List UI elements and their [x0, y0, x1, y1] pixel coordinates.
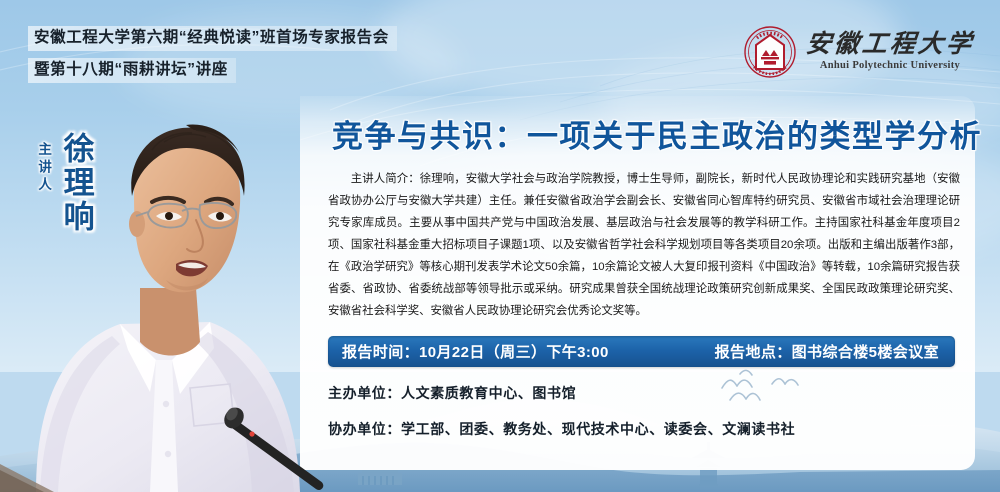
main-content: 竞争与共识：一项关于民主政治的类型学分析 主讲人简介：徐理响，安徽大学社会与政治…: [328, 118, 968, 455]
header-line-1: 安徽工程大学第六期“经典悦读”班首场专家报告会: [28, 26, 397, 51]
speaker-name: 徐理响: [59, 132, 92, 234]
university-seal-icon: [744, 26, 796, 78]
poster-canvas: 安徽工程大学第六期“经典悦读”班首场专家报告会 暨第十八期“雨耕讲坛”讲座 安徽…: [0, 0, 1000, 492]
logo-wordmark: 安徽工程大学 Anhui Polytechnic University: [806, 32, 974, 72]
event-location: 报告地点：图书综合楼5楼会议室: [715, 341, 939, 362]
speaker-bio: 主讲人简介：徐理响，安徽大学社会与政治学院教授，博士生导师，副院长，新时代人民政…: [328, 169, 960, 322]
event-info-bar: 报告时间：10月22日（周三）下午3:00 报告地点：图书综合楼5楼会议室: [328, 336, 955, 367]
cohost-organizers: 协办单位：学工部、团委、教务处、现代技术中心、读委会、文澜读书社: [328, 419, 968, 439]
logo-name-en: Anhui Polytechnic University: [820, 61, 960, 72]
logo-name-cn: 安徽工程大学: [805, 32, 976, 57]
lecture-title: 竞争与共识：一项关于民主政治的类型学分析: [332, 118, 968, 155]
header-line-2: 暨第十八期“雨耕讲坛”讲座: [28, 58, 236, 83]
event-time: 报告时间：10月22日（周三）下午3:00: [342, 341, 609, 362]
header-title-block: 安徽工程大学第六期“经典悦读”班首场专家报告会 暨第十八期“雨耕讲坛”讲座: [28, 26, 397, 90]
host-organizers: 主办单位：人文素质教育中心、图书馆: [328, 383, 968, 403]
university-logo: 安徽工程大学 Anhui Polytechnic University: [744, 26, 974, 78]
organizers-block: 主办单位：人文素质教育中心、图书馆 协办单位：学工部、团委、教务处、现代技术中心…: [328, 383, 968, 439]
speaker-role-label: 主讲人: [36, 142, 50, 195]
speaker-name-block: 主讲人 徐理响: [36, 132, 93, 234]
